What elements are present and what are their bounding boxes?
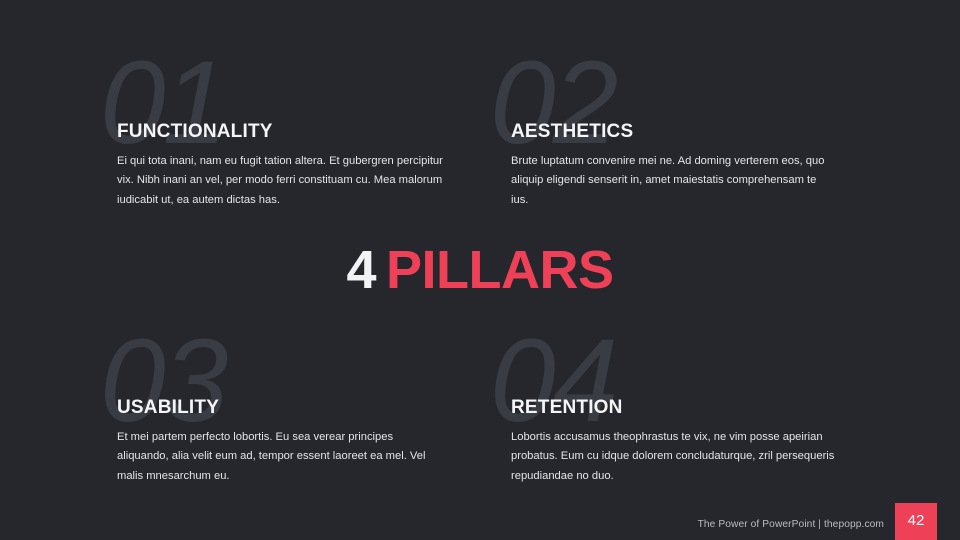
pillar-title-functionality: FUNCTIONALITY bbox=[117, 122, 462, 143]
pillar-title-usability: USABILITY bbox=[117, 398, 462, 419]
slide-headline: 4PILLARS bbox=[0, 243, 960, 297]
pillar-block-aesthetics: AESTHETICS Brute luptatum convenire mei … bbox=[511, 122, 856, 210]
pillar-title-aesthetics: AESTHETICS bbox=[511, 122, 856, 143]
headline-word: PILLARS bbox=[386, 240, 614, 300]
footer-credit: The Power of PowerPoint | thepopp.com bbox=[698, 519, 884, 530]
headline-number: 4 bbox=[346, 240, 376, 300]
pillar-body-usability: Et mei partem perfecto lobortis. Eu sea … bbox=[117, 428, 447, 487]
slide-canvas: 01 02 03 04 FUNCTIONALITY Ei qui tota in… bbox=[0, 0, 960, 540]
pillar-body-retention: Lobortis accusamus theophrastus te vix, … bbox=[511, 428, 856, 487]
pillar-title-retention: RETENTION bbox=[511, 398, 856, 419]
pillar-block-retention: RETENTION Lobortis accusamus theophrastu… bbox=[511, 398, 856, 486]
pillar-block-usability: USABILITY Et mei partem perfecto loborti… bbox=[117, 398, 462, 486]
pillar-body-functionality: Ei qui tota inani, nam eu fugit tation a… bbox=[117, 152, 447, 211]
pillar-body-aesthetics: Brute luptatum convenire mei ne. Ad domi… bbox=[511, 152, 836, 211]
pillar-block-functionality: FUNCTIONALITY Ei qui tota inani, nam eu … bbox=[117, 122, 462, 210]
page-number-badge: 42 bbox=[895, 503, 937, 540]
